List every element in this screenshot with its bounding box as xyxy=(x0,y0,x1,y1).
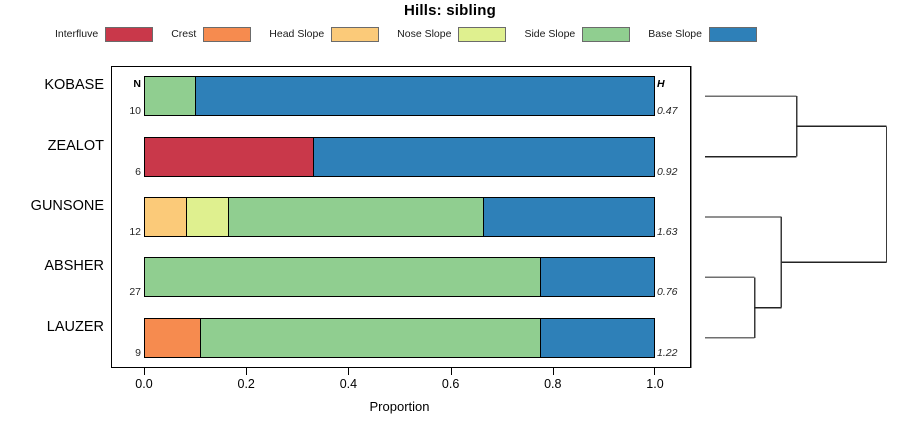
legend-item-label: Nose Slope xyxy=(397,28,451,40)
n-column: N 10612279 xyxy=(111,66,144,368)
x-axis-tick-label: 0.0 xyxy=(135,377,152,391)
y-axis-label-lauzer: LAUZER xyxy=(47,319,104,335)
bar-segment[interactable] xyxy=(187,198,229,236)
x-axis-tick-label: 0.8 xyxy=(544,377,561,391)
bar-kobase[interactable] xyxy=(144,76,655,116)
bar-absher[interactable] xyxy=(144,257,655,297)
bar-segment[interactable] xyxy=(541,319,654,357)
legend-item-label: Side Slope xyxy=(524,28,575,40)
h-column: H 0.470.921.630.761.22 xyxy=(657,66,691,368)
x-axis: 0.00.20.40.60.81.0 xyxy=(144,368,655,398)
legend-item-label: Head Slope xyxy=(269,28,324,40)
dendrogram xyxy=(691,66,900,368)
legend-item-label: Base Slope xyxy=(648,28,702,40)
n-column-header: N xyxy=(111,78,141,90)
h-value: 0.76 xyxy=(657,286,689,298)
x-axis-tick xyxy=(451,368,452,375)
x-axis-tick-label: 0.6 xyxy=(442,377,459,391)
legend-swatch-icon xyxy=(458,27,506,42)
bar-segment[interactable] xyxy=(145,138,314,176)
bar-segment[interactable] xyxy=(145,258,541,296)
bar-segment[interactable] xyxy=(201,319,541,357)
legend-item[interactable]: Base Slope xyxy=(648,27,757,42)
bar-lauzer[interactable] xyxy=(144,318,655,358)
n-value: 6 xyxy=(111,166,141,178)
legend-item[interactable]: Interfluve xyxy=(55,27,153,42)
legend-item-label: Crest xyxy=(171,28,196,40)
legend-item[interactable]: Crest xyxy=(171,27,251,42)
y-axis-label-absher: ABSHER xyxy=(44,258,104,274)
bar-zealot[interactable] xyxy=(144,137,655,177)
bar-segment[interactable] xyxy=(229,198,484,236)
bar-gunsone[interactable] xyxy=(144,197,655,237)
x-axis-tick xyxy=(144,368,145,375)
bar-segment[interactable] xyxy=(145,319,201,357)
legend-swatch-icon xyxy=(331,27,379,42)
x-axis-tick xyxy=(246,368,247,375)
x-axis-tick-label: 0.2 xyxy=(237,377,254,391)
bar-segment[interactable] xyxy=(314,138,654,176)
legend-swatch-icon xyxy=(203,27,251,42)
bar-segment[interactable] xyxy=(196,77,654,115)
y-axis-label-gunsone: GUNSONE xyxy=(31,198,104,214)
legend-swatch-icon xyxy=(105,27,153,42)
legend-item[interactable]: Side Slope xyxy=(524,27,630,42)
x-axis-tick xyxy=(348,368,349,375)
x-axis-title: Proportion xyxy=(144,399,655,414)
bar-segment[interactable] xyxy=(145,198,187,236)
chart-root: Hills: sibling InterfluveCrestHead Slope… xyxy=(0,0,900,440)
h-value: 1.63 xyxy=(657,226,689,238)
legend-item[interactable]: Nose Slope xyxy=(397,27,506,42)
page-title: Hills: sibling xyxy=(0,2,900,19)
n-value: 10 xyxy=(111,105,141,117)
n-value: 12 xyxy=(111,226,141,238)
bar-segment[interactable] xyxy=(145,77,196,115)
n-value: 9 xyxy=(111,347,141,359)
legend-swatch-icon xyxy=(582,27,630,42)
h-value: 1.22 xyxy=(657,347,689,359)
legend-item[interactable]: Head Slope xyxy=(269,27,379,42)
legend-swatch-icon xyxy=(709,27,757,42)
bar-segment[interactable] xyxy=(484,198,654,236)
h-column-header: H xyxy=(657,78,687,90)
legend-item-label: Interfluve xyxy=(55,28,98,40)
stacked-bars xyxy=(144,66,655,368)
h-value: 0.92 xyxy=(657,166,689,178)
x-axis-tick-label: 0.4 xyxy=(340,377,357,391)
y-axis-label-zealot: ZEALOT xyxy=(48,138,104,154)
x-axis-tick-label: 1.0 xyxy=(646,377,663,391)
x-axis-tick xyxy=(654,368,655,375)
h-value: 0.47 xyxy=(657,105,689,117)
n-value: 27 xyxy=(111,286,141,298)
x-axis-tick xyxy=(553,368,554,375)
y-axis-label-kobase: KOBASE xyxy=(44,77,104,93)
dendrogram-tree xyxy=(691,66,900,368)
legend: InterfluveCrestHead SlopeNose SlopeSide … xyxy=(55,24,845,44)
bar-segment[interactable] xyxy=(541,258,654,296)
y-axis-labels: KOBASEZEALOTGUNSONEABSHERLAUZER xyxy=(0,66,108,368)
